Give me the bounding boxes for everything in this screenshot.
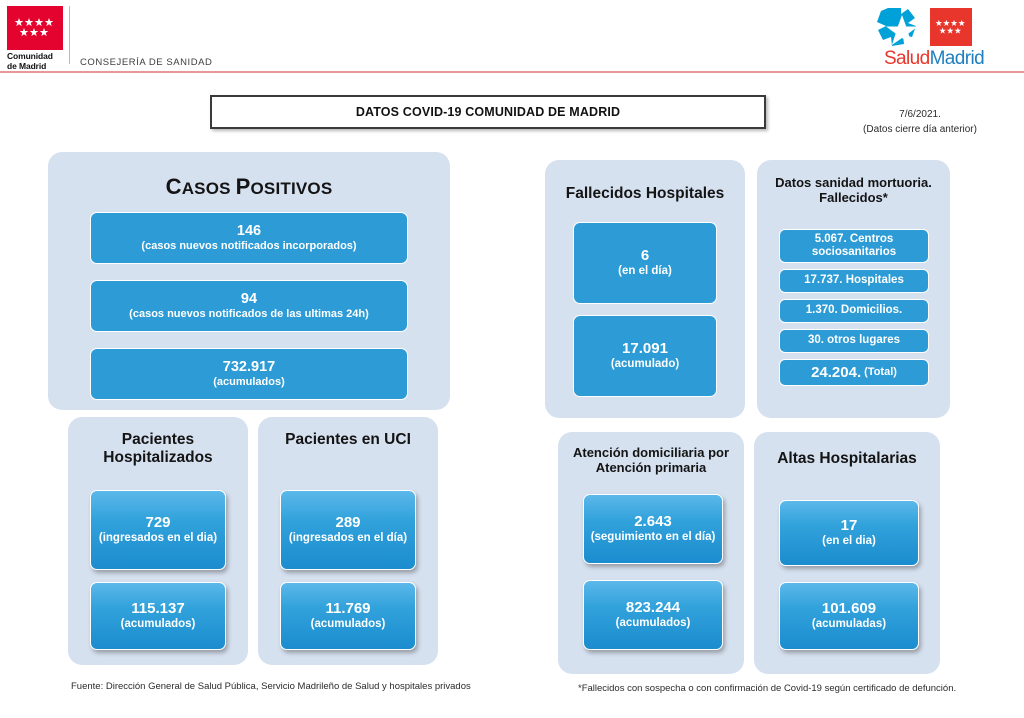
header-horizontal-rule [0,71,1024,73]
panel-title-datos-sanidad-mortuoria: Datos sanidad mortuoria. Fallecidos* [757,176,950,206]
stat-box-fallecidos-acumulado: 17.091 (acumulado) [573,315,717,397]
panel-title-altas-hospitalarias: Altas Hospitalarias [754,450,940,468]
stat-label: (seguimiento en el día) [591,531,716,545]
stat-label: (casos nuevos notificados incorporados) [141,240,356,253]
comunidad-de-madrid-logo: Comunidad de Madrid [7,6,63,72]
panel-title-atencion-domiciliaria: Atención domiciliaria por Atención prima… [558,446,744,476]
panel-atencion-domiciliaria: Atención domiciliaria por Atención prima… [558,432,744,674]
seven-stars-icon [14,17,56,39]
stat-label: (acumulados) [121,618,196,632]
total-label: (Total) [864,366,897,379]
panel-casos-positivos: CASOS POSITIVOS 146 (casos nuevos notifi… [48,152,450,410]
stat-box-atencion-acumulados: 823.244 (acumulados) [583,580,723,650]
mortuoria-list: 5.067. Centros sociosanitarios 17.737. H… [779,229,929,392]
panel-title-pacientes-hospitalizados: Pacientes Hospitalizados [68,431,248,466]
page-header: Comunidad de Madrid CONSEJERÍA DE SANIDA… [0,0,1024,80]
seven-stars-icon [935,19,967,36]
stat-box-casos-nuevos-24h: 94 (casos nuevos notificados de las ulti… [90,280,408,332]
consejeria-label: CONSEJERÍA DE SANIDAD [80,57,212,68]
list-item: 1.370. Domicilios. [779,299,929,323]
stat-value: 6 [641,248,649,265]
stat-label: (en el dia) [822,535,876,549]
stat-box-uci-acumulados: 11.769 (acumulados) [280,582,416,650]
stat-value: 823.244 [626,600,680,617]
covid-dashboard-page: Comunidad de Madrid CONSEJERÍA DE SANIDA… [0,0,1024,718]
salud-text: Salud [884,48,930,69]
casos-title-asos: ASOS [182,179,236,198]
stat-box-altas-dia: 17 (en el dia) [779,500,919,566]
stat-value: 115.137 [131,601,184,618]
comunidad-de-madrid-wordmark: Comunidad de Madrid [7,52,63,72]
stat-box-atencion-seguimiento-dia: 2.643 (seguimiento en el día) [583,494,723,564]
panel-pacientes-hospitalizados: Pacientes Hospitalizados 729 (ingresados… [68,417,248,665]
casos-title-c: C [166,174,182,199]
casos-title-ositivos: OSITIVOS [250,179,332,198]
panel-altas-hospitalarias: Altas Hospitalarias 17 (en el dia) 101.6… [754,432,940,674]
salud-madrid-logo: SaludMadrid [874,6,994,68]
stat-value: 11.769 [325,601,370,618]
stat-label: (ingresados en el día) [289,532,407,546]
total-value: 24.204. [811,364,861,381]
footnote-asterisk: *Fallecidos con sospecha o con confirmac… [578,683,956,694]
casos-title-p: P [236,174,251,199]
list-item: 17.737. Hospitales [779,269,929,293]
stat-box-hospitalizados-acumulados: 115.137 (acumulados) [90,582,226,650]
stat-value: 94 [241,291,257,307]
title-line-1: Datos sanidad mortuoria. [757,176,950,191]
panel-title-casos-positivos: CASOS POSITIVOS [48,174,450,199]
list-item-total: 24.204.(Total) [779,359,929,386]
madrid-flag-icon-small [930,8,972,46]
panel-pacientes-uci: Pacientes en UCI 289 (ingresados en el d… [258,417,438,665]
page-title: DATOS COVID-19 COMUNIDAD DE MADRID [356,105,620,119]
madrid-text: Madrid [930,48,984,69]
stat-label: (acumulados) [616,617,691,631]
stat-box-casos-nuevos-incorporados: 146 (casos nuevos notificados incorporad… [90,212,408,264]
stat-value: 729 [145,515,170,532]
title-line-2: Fallecidos* [757,191,950,206]
header-vertical-divider [69,6,70,64]
panel-datos-sanidad-mortuoria: Datos sanidad mortuoria. Fallecidos* 5.0… [757,160,950,418]
stat-value: 2.643 [634,514,672,531]
stat-value: 17 [841,518,858,535]
stat-label: (acumulados) [213,376,285,389]
stat-value: 289 [335,515,360,532]
stat-box-uci-dia: 289 (ingresados en el día) [280,490,416,570]
stat-box-casos-acumulados: 732.917 (acumulados) [90,348,408,400]
title-line-2: Hospitalizados [68,449,248,467]
panel-fallecidos-hospitales: Fallecidos Hospitales 6 (en el día) 17.0… [545,160,745,418]
list-item: 5.067. Centros sociosanitarios [779,229,929,263]
madrid-flag-icon [7,6,63,50]
footnote-source: Fuente: Dirección General de Salud Públi… [71,681,471,692]
stat-value: 17.091 [622,341,668,358]
stat-box-fallecidos-dia: 6 (en el día) [573,222,717,304]
stat-label: (ingresados en el dia) [99,532,217,546]
panel-title-fallecidos-hospitales: Fallecidos Hospitales [545,185,745,203]
title-line-1: Pacientes [68,431,248,449]
stat-value: 732.917 [223,359,275,375]
report-date-block: 7/6/2021. (Datos cierre día anterior) [830,108,1010,137]
title-line-1: Pacientes en UCI [258,431,438,449]
salud-madrid-wordmark: SaludMadrid [874,49,994,68]
title-line-2: Atención primaria [558,461,744,476]
stat-value: 101.609 [822,601,876,618]
stat-label: (en el día) [618,265,672,279]
stat-label: (acumuladas) [812,618,886,632]
salud-madrid-mark [874,6,994,48]
salud-madrid-star-icon [874,6,930,48]
page-title-box: DATOS COVID-19 COMUNIDAD DE MADRID [210,95,766,129]
report-date: 7/6/2021. [830,108,1010,123]
stat-label: (casos nuevos notificados de las ultimas… [129,308,369,321]
stat-label: (acumulado) [611,358,679,372]
stat-label: (acumulados) [311,618,386,632]
stat-value: 146 [237,223,261,239]
report-date-note: (Datos cierre día anterior) [830,123,1010,138]
list-item: 30. otros lugares [779,329,929,353]
panel-title-pacientes-uci: Pacientes en UCI [258,431,438,449]
stat-box-altas-acumuladas: 101.609 (acumuladas) [779,582,919,650]
stat-box-hospitalizados-dia: 729 (ingresados en el dia) [90,490,226,570]
title-line-1: Atención domiciliaria por [558,446,744,461]
